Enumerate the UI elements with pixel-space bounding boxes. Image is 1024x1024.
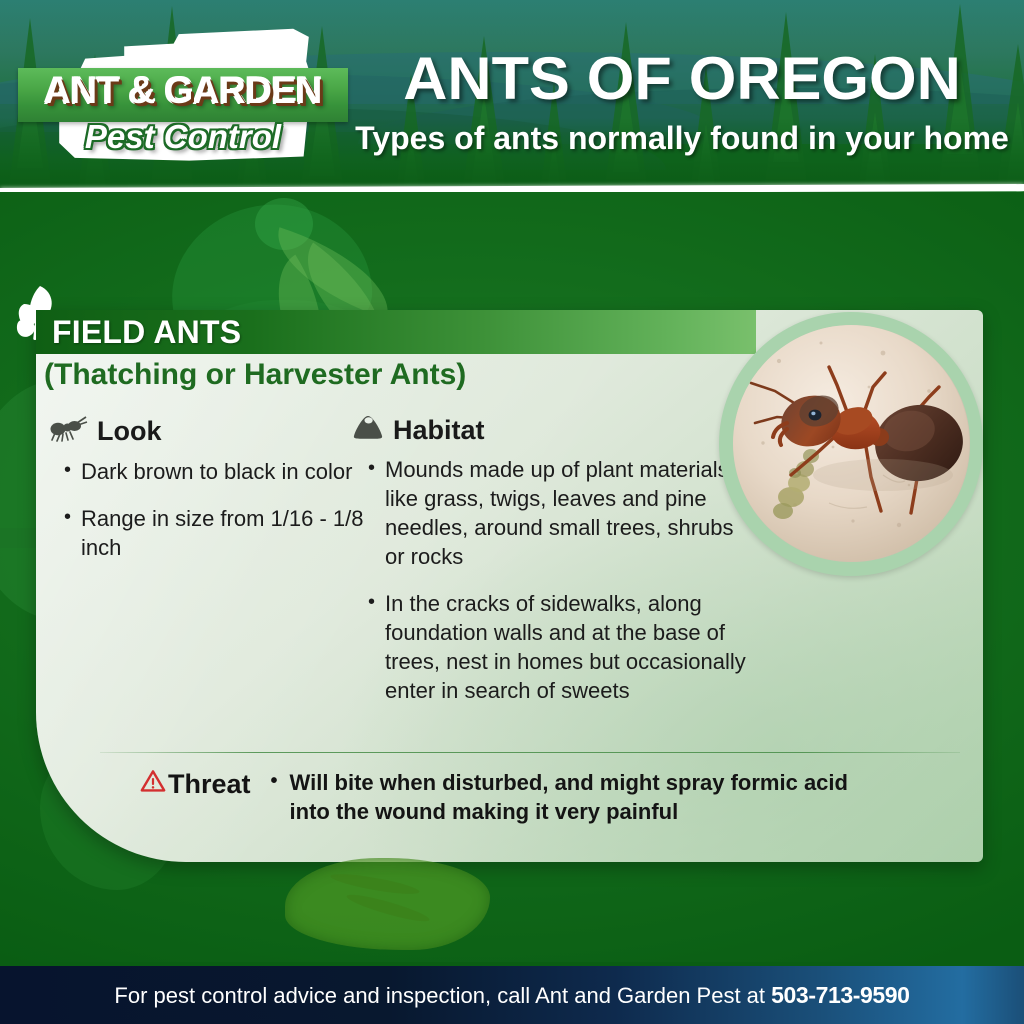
footer-message: For pest control advice and inspection, … [114, 983, 771, 1008]
threat-label: Threat [168, 769, 251, 799]
company-logo[interactable]: ANT & GARDEN Pest Control [18, 26, 348, 166]
threat-text: Will bite when disturbed, and might spra… [269, 768, 889, 826]
card-subtitle: (Thatching or Harvester Ants) [44, 358, 466, 392]
card-header-bar: FIELD ANTS [36, 310, 756, 354]
section-look-header: Look [48, 414, 368, 447]
warning-triangle-icon [140, 769, 166, 799]
threat-label-group: Threat [140, 768, 251, 799]
section-threat: Threat Will bite when disturbed, and mig… [140, 768, 940, 826]
section-look: Look Dark brown to black in color Range … [48, 414, 368, 580]
footer-phone-number[interactable]: 503-713-9590 [771, 982, 909, 1008]
list-item: Dark brown to black in color [64, 457, 368, 486]
logo-line-1: ANT & GARDEN [18, 70, 348, 112]
list-item: Range in size from 1/16 - 1/8 inch [64, 504, 368, 562]
habitat-bullet-list: Mounds made up of plant materials like g… [352, 455, 752, 705]
ant-icon [48, 414, 88, 447]
card-title: FIELD ANTS [52, 314, 241, 351]
footer-text: For pest control advice and inspection, … [114, 982, 909, 1009]
ant-photograph [733, 325, 970, 562]
section-look-heading: Look [97, 416, 162, 446]
list-item: Mounds made up of plant materials like g… [368, 455, 752, 571]
threat-divider [100, 752, 960, 753]
section-habitat-header: Habitat [352, 414, 752, 445]
logo-line-2: Pest Control [18, 118, 348, 156]
list-item: In the cracks of sidewalks, along founda… [368, 589, 752, 705]
footer-bar: For pest control advice and inspection, … [0, 966, 1024, 1024]
page-title: ANTS OF OREGON [345, 48, 1018, 110]
look-bullet-list: Dark brown to black in color Range in si… [48, 457, 368, 562]
infographic-page: ANT & GARDEN Pest Control ANTS OF OREGON… [0, 0, 1024, 1024]
section-habitat: Habitat Mounds made up of plant material… [352, 414, 752, 723]
ant-mound-icon [352, 414, 384, 445]
page-subtitle: Types of ants normally found in your hom… [352, 118, 1012, 158]
section-habitat-heading: Habitat [393, 415, 485, 445]
